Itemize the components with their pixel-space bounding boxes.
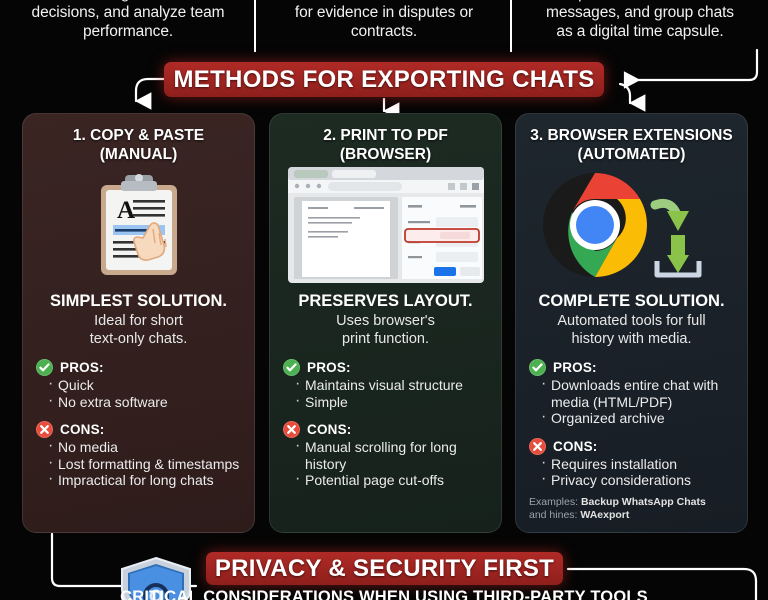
list-item: Potential page cut-offs	[295, 472, 488, 489]
card-subline-3: Automated tools for full history with me…	[529, 312, 734, 348]
x-circle-icon	[529, 438, 546, 455]
method-card-print-pdf[interactable]: 2. PRINT TO PDF (BROWSER)	[269, 113, 502, 533]
list-item: Requires installation	[541, 456, 734, 473]
examples-value-2: WAexport	[580, 509, 629, 521]
browser-print-dialog-icon	[283, 170, 488, 280]
check-circle-icon	[529, 359, 546, 376]
top-benefit-text-2: Create non-editable PDFs for evidence in…	[256, 0, 512, 41]
top-benefit-text-1: Record agreements, decisions, and analyz…	[0, 0, 256, 41]
list-item: Maintains visual structure	[295, 377, 488, 394]
card-headline-2: PRESERVES LAYOUT.	[283, 292, 488, 311]
list-item: Quick	[48, 377, 241, 394]
cons-block-1: CONS: No media Lost formatting & timesta…	[36, 421, 241, 489]
examples-value-1: Backup WhatsApp Chats	[581, 496, 706, 508]
clipboard-hand-icon: A	[36, 170, 241, 280]
cons-block-2: CONS: Manual scrolling for long history …	[283, 421, 488, 489]
list-item: Manual scrolling for long history	[295, 439, 488, 472]
pros-list-1: Quick No extra software	[48, 377, 241, 410]
top-benefits-row: Record agreements, decisions, and analyz…	[0, 0, 768, 52]
list-item: No media	[48, 439, 241, 456]
card-subline-2: Uses browser's print function.	[283, 312, 488, 348]
svg-text:A: A	[117, 197, 135, 224]
methods-banner: METHODS FOR EXPORTING CHATS	[164, 62, 604, 97]
card-title-2: 2. PRINT TO PDF (BROWSER)	[283, 126, 488, 164]
top-benefit-3: Save personal memories, first messages, …	[512, 0, 768, 52]
list-item: Privacy considerations	[541, 472, 734, 489]
privacy-banner: PRIVACY & SECURITY FIRST	[206, 552, 563, 585]
top-benefit-1: Record agreements, decisions, and analyz…	[0, 0, 256, 52]
x-circle-icon	[36, 421, 53, 438]
method-card-browser-extensions[interactable]: 3. BROWSER EXTENSIONS (AUTOMATED) COMPLE…	[515, 113, 748, 533]
list-item: Downloads entire chat with media (HTML/P…	[541, 377, 734, 410]
pros-label-3: PROS:	[553, 360, 597, 375]
list-item: Impractical for long chats	[48, 472, 241, 489]
chrome-download-icon	[529, 170, 734, 280]
list-item: Lost formatting & timestamps	[48, 456, 241, 473]
pros-label-2: PROS:	[307, 360, 351, 375]
cons-list-3: Requires installation Privacy considerat…	[541, 456, 734, 489]
list-item: Organized archive	[541, 410, 734, 427]
check-circle-icon	[36, 359, 53, 376]
pros-block-3: PROS: Downloads entire chat with media (…	[529, 359, 734, 427]
card-subline-1: Ideal for short text-only chats.	[36, 312, 241, 348]
cons-block-3: CONS: Requires installation Privacy cons…	[529, 438, 734, 522]
method-card-copy-paste[interactable]: 1. COPY & PASTE (MANUAL) A	[22, 113, 255, 533]
cons-label-3: CONS:	[553, 439, 598, 454]
card-title-3: 3. BROWSER EXTENSIONS (AUTOMATED)	[529, 126, 734, 164]
top-benefit-2: Create non-editable PDFs for evidence in…	[256, 0, 512, 52]
x-circle-icon	[283, 421, 300, 438]
examples-prefix-1: Examples:	[529, 496, 578, 508]
examples-prefix-2: and hines:	[529, 509, 577, 521]
cons-label-1: CONS:	[60, 422, 105, 437]
check-circle-icon	[283, 359, 300, 376]
privacy-subtitle: CRITICAL CONSIDERATIONS WHEN USING THIRD…	[0, 588, 768, 600]
cons-list-1: No media Lost formatting & timestamps Im…	[48, 439, 241, 489]
pros-block-1: PROS: Quick No extra software	[36, 359, 241, 410]
pros-list-3: Downloads entire chat with media (HTML/P…	[541, 377, 734, 427]
card-title-1: 1. COPY & PASTE (MANUAL)	[36, 126, 241, 164]
card-headline-3: COMPLETE SOLUTION.	[529, 292, 734, 311]
pros-list-2: Maintains visual structure Simple	[295, 377, 488, 410]
card-headline-1: SIMPLEST SOLUTION.	[36, 292, 241, 311]
list-item: No extra software	[48, 394, 241, 411]
pros-block-2: PROS: Maintains visual structure Simple	[283, 359, 488, 410]
infographic-canvas: Record agreements, decisions, and analyz…	[0, 0, 768, 600]
cons-label-2: CONS:	[307, 422, 352, 437]
top-benefit-text-3: Save personal memories, first messages, …	[512, 0, 768, 41]
pros-label-1: PROS:	[60, 360, 104, 375]
list-item: Simple	[295, 394, 488, 411]
examples-note: Examples: Backup WhatsApp Chats and hine…	[529, 496, 734, 522]
cons-list-2: Manual scrolling for long history Potent…	[295, 439, 488, 489]
